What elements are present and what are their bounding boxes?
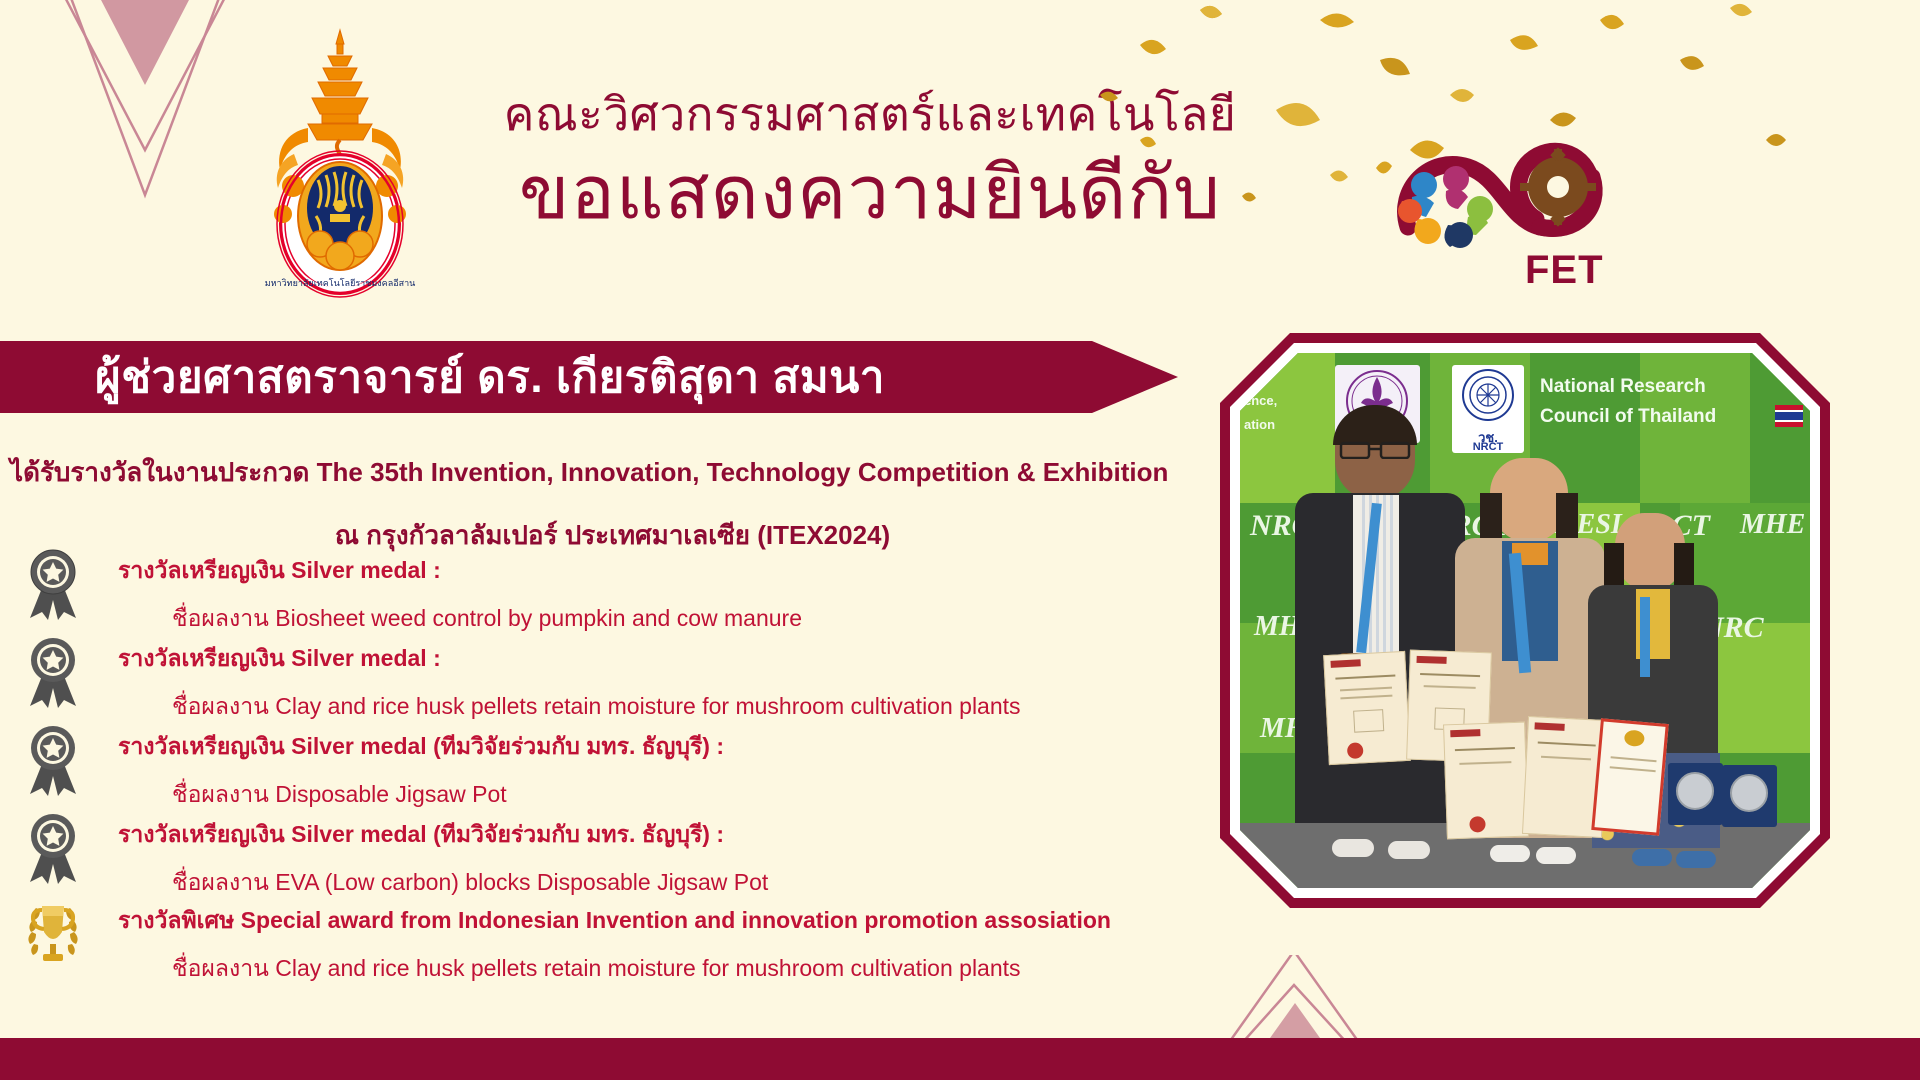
award-photo-frame: ence, ation [1220,333,1830,908]
nrct-abbr: NRCT [1452,441,1524,453]
silver-medal-ribbon-icon [22,636,84,708]
congratulations-poster: มหาวิทยาลัยเทคโนโลยีราชมงคลอีสาน คณะวิศว… [0,0,1920,1080]
photo-backdrop: ence, ation [1240,353,1810,888]
award-ceremony-photo: ence, ation [1240,353,1810,888]
person-right-lanyard [1640,597,1650,677]
award-title: รางวัลเหรียญเงิน Silver medal (ทีมวิจัยร… [118,729,724,765]
silver-medal-ribbon-icon [22,812,84,884]
thai-flag-icon [1775,405,1803,427]
fet-wordmark: FET [1525,248,1604,293]
award-work-name: ชื่อผลงาน Clay and rice husk pellets ret… [172,951,1021,987]
award-title: รางวัลเหรียญเงิน Silver medal (ทีมวิจัยร… [118,817,724,853]
footer-bar [0,1038,1920,1080]
medal-box [1722,765,1777,827]
award-title: รางวัลพิเศษ Special award from Indonesia… [118,903,1111,939]
gold-trophy-laurel-icon [22,898,84,970]
honoree-name: ผู้ช่วยศาสตราจารย์ ดร. เกียรติสุดา สมนา [0,342,885,412]
backdrop-heading-line-1: National Research [1540,375,1706,399]
backdrop-side-text-2: ation [1244,417,1275,433]
backdrop-side-text-1: ence, [1244,393,1277,409]
congratulations-headline: ขอแสดงความยินดีกับ [470,147,1270,240]
award-work-name: ชื่อผลงาน Clay and rice husk pellets ret… [172,689,1021,725]
award-title: รางวัลเหรียญเงิน Silver medal : [118,641,441,677]
medal-box [1668,763,1723,825]
competition-line-1: ได้รับรางวัลในงานประกวด The 35th Inventi… [10,452,1210,493]
certificate [1443,722,1529,840]
svg-text:มหาวิทยาลัยเทคโนโลยีราชมงคลอีส: มหาวิทยาลัยเทคโนโลยีราชมงคลอีสาน [265,278,416,288]
award-photo-inner-border: ence, ation [1230,343,1820,898]
silver-medal-ribbon-icon [22,724,84,796]
backdrop-heading-line-2: Council of Thailand [1540,405,1716,429]
honoree-name-banner: ผู้ช่วยศาสตราจารย์ ดร. เกียรติสุดา สมนา [0,341,1178,413]
poster-header: มหาวิทยาลัยเทคโนโลยีราชมงคลอีสาน คณะวิศว… [0,0,1920,330]
certificate [1323,651,1411,765]
faculty-name: คณะวิศวกรรมศาสตร์และเทคโนโลยี [470,88,1270,141]
award-work-name: ชื่อผลงาน Disposable Jigsaw Pot [172,777,507,813]
rmuti-university-logo-icon: มหาวิทยาลัยเทคโนโลยีราชมงคลอีสาน [250,28,430,303]
silver-medal-ribbon-icon [22,548,84,620]
certificate-red-border [1591,718,1669,836]
competition-line-2: ณ กรุงกัวลาลัมเปอร์ ประเทศมาเลเซีย (ITEX… [10,515,1215,556]
award-work-name: ชื่อผลงาน EVA (Low carbon) blocks Dispos… [172,865,768,901]
award-work-name: ชื่อผลงาน Biosheet weed control by pumpk… [172,601,802,637]
header-text-block: คณะวิศวกรรมศาสตร์และเทคโนโลยี ขอแสดงความ… [470,88,1270,239]
award-title: รางวัลเหรียญเงิน Silver medal : [118,553,441,589]
